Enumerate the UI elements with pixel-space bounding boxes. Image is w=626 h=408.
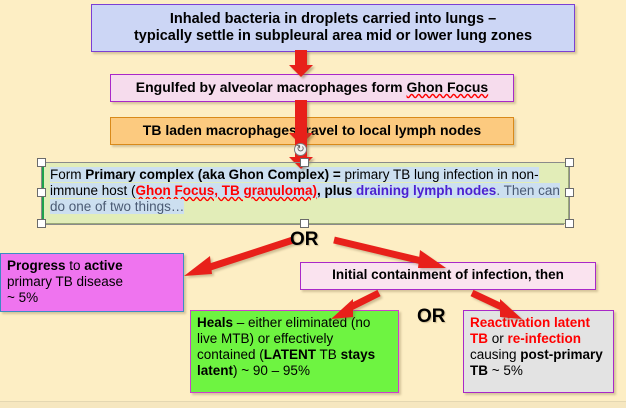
resize-handle-e[interactable] [565, 188, 574, 197]
box-reactivation-seg2: or [488, 331, 508, 346]
resize-handle-n[interactable] [300, 158, 309, 167]
label-or-top: OR [290, 229, 319, 251]
box-progress-seg3: active [84, 258, 122, 273]
box-progress-active-tb[interactable]: Progress to active primary TB disease ~ … [0, 253, 184, 312]
box-heals-seg6: ) ~ 90 – 95% [233, 363, 310, 378]
box-inhaled-line1: Inhaled bacteria in droplets carried int… [92, 11, 574, 28]
box-progress-seg1: Progress [7, 258, 66, 273]
diagonal-arrow-to-progress [178, 236, 298, 281]
box-heals-seg4: TB [316, 347, 341, 362]
rotate-icon: ↻ [296, 144, 304, 155]
rotate-handle[interactable]: ↻ [294, 143, 307, 156]
label-or-bottom: OR [417, 306, 446, 328]
box-inhaled-line2: typically settle in subpleural area mid … [92, 28, 574, 45]
box-engulfed-macrophages[interactable]: Engulfed by alveolar macrophages form Gh… [110, 74, 514, 102]
box-heals-seg1: Heals [197, 315, 233, 330]
diagonal-arrow-to-reactivation [466, 289, 528, 323]
box-engulfed-ghon-focus: Ghon Focus [407, 79, 489, 95]
resize-handle-s[interactable] [300, 219, 309, 228]
box-progress-line1: Progress to active [7, 258, 183, 274]
diagonal-arrow-to-heals [327, 289, 387, 323]
resize-handle-sw[interactable] [37, 219, 46, 228]
box-reactivation-seg6: ~ 5% [488, 363, 523, 378]
box-primary-seg5: , plus [317, 183, 356, 198]
diagonal-arrow-to-containment [330, 236, 455, 272]
box-primary-seg1: Form [50, 167, 85, 182]
box-primary-draining-nodes: draining lymph nodes [356, 183, 496, 198]
box-heals-latent: LATENT [264, 347, 316, 362]
box-progress-seg2: to [66, 258, 85, 273]
box-progress-line2: primary TB disease [7, 274, 183, 290]
box-reactivation-seg4: causing [470, 347, 520, 362]
box-primary-ghon-complex: Ghon Focus, TB granuloma) [136, 183, 318, 198]
box-primary-complex[interactable]: Form Primary complex (aka Ghon Complex) … [41, 162, 569, 224]
box-reactivation-reinfection: re-infection [508, 331, 582, 346]
resize-handle-nw[interactable] [37, 158, 46, 167]
resize-handle-w[interactable] [37, 188, 46, 197]
resize-handle-se[interactable] [565, 219, 574, 228]
box-inhaled-bacteria[interactable]: Inhaled bacteria in droplets carried int… [91, 4, 575, 52]
down-block-arrow-1 [288, 50, 314, 78]
slide-bottom-strip [0, 401, 626, 408]
resize-handle-ne[interactable] [565, 158, 574, 167]
box-progress-line3: ~ 5% [7, 290, 183, 306]
box-engulfed-prefix: Engulfed by alveolar macrophages form [136, 79, 407, 95]
slide-canvas: Inhaled bacteria in droplets carried int… [0, 0, 626, 408]
